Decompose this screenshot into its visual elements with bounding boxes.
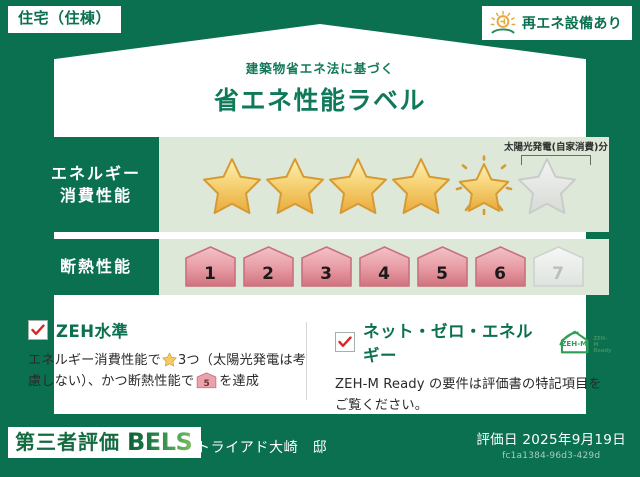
solar-sun-icon	[489, 10, 517, 36]
evaluation-date: 評価日 2025年9月19日	[476, 428, 626, 448]
svg-text:ZEH-M: ZEH-M	[561, 339, 587, 348]
criteria-zeh-standard: ZEH水準 エネルギー消費性能で3つ（太陽光発電は考慮しない）、かつ断熱性能で5…	[28, 318, 311, 417]
grade-number: 5	[415, 264, 470, 284]
inline-grade-number: 5	[196, 380, 217, 389]
checkmark-icon	[335, 332, 355, 352]
star-filled-3	[327, 155, 389, 215]
criteria-left-text-3: を達成	[219, 374, 259, 389]
insulation-grade-7: 7	[531, 245, 586, 289]
energy-performance-label: 住宅（住棟） 再エネ設備あり 建築物省エネ法に基づく	[0, 0, 640, 477]
title-main: 省エネ性能ラベル	[0, 81, 640, 117]
checkmark-icon	[28, 320, 48, 340]
star-filled-5-solar	[453, 155, 515, 215]
grade-number: 4	[357, 264, 412, 284]
grade-number: 7	[531, 264, 586, 284]
criteria-net-zero-energy: ネット・ゼロ・エネルギー ZEH-M ZEH-M Ready ZEH-M Rea…	[311, 318, 612, 417]
renewable-equipment-badge: 再エネ設備あり	[482, 6, 632, 40]
star-filled-2	[264, 155, 326, 215]
criteria-right-title: ネット・ゼロ・エネルギー	[363, 318, 550, 366]
zeh-m-house-icon: ZEH-M	[558, 329, 591, 355]
star-filled-1	[201, 155, 263, 215]
insulation-row-label: 断熱性能	[33, 239, 159, 295]
star-empty-6	[516, 155, 578, 215]
dwelling-type-tag: 住宅（住棟）	[8, 6, 121, 33]
label-footer: 第三者評価 BELS トライアド大崎 邸 評価日 2025年9月19日 fc1a…	[0, 417, 640, 477]
building-name: トライアド大崎 邸	[196, 437, 327, 457]
criteria-left-header: ZEH水準	[28, 318, 311, 342]
energy-label-line2: 消費性能	[60, 185, 132, 207]
grade-number: 1	[183, 264, 238, 284]
criteria-right-header: ネット・ゼロ・エネルギー ZEH-M ZEH-M Ready	[335, 318, 612, 366]
energy-star-track: 太陽光発電(自家消費)分	[159, 137, 609, 232]
insulation-label-text: 断熱性能	[60, 256, 132, 278]
energy-row-label: エネルギー 消費性能	[33, 137, 159, 232]
criteria-section: ZEH水準 エネルギー消費性能で3つ（太陽光発電は考慮しない）、かつ断熱性能で5…	[28, 318, 612, 417]
bels-jp-label: 第三者評価	[15, 431, 120, 453]
criteria-left-body: エネルギー消費性能で3つ（太陽光発電は考慮しない）、かつ断熱性能で5を達成	[28, 350, 311, 393]
bels-certification-badge: 第三者評価 BELS	[8, 427, 201, 458]
grade-number: 2	[241, 264, 296, 284]
insulation-grade-1: 1	[183, 245, 238, 289]
insulation-grade-3: 3	[299, 245, 354, 289]
label-title-block: 建築物省エネ法に基づく 省エネ性能ラベル	[0, 58, 640, 117]
criteria-right-body: ZEH-M Ready の要件は評価書の特記項目をご覧ください。	[335, 374, 612, 417]
criteria-left-title: ZEH水準	[56, 318, 129, 342]
rating-rows: エネルギー 消費性能 太陽光発電(自家消費)分	[33, 137, 609, 302]
insulation-grade-5: 5	[415, 245, 470, 289]
energy-performance-row: エネルギー 消費性能 太陽光発電(自家消費)分	[33, 137, 609, 232]
title-subtitle: 建築物省エネ法に基づく	[0, 58, 640, 77]
star-icon	[162, 352, 177, 367]
insulation-performance-row: 断熱性能 1 2 3 4	[33, 239, 609, 295]
insulation-grade-inline-icon: 5	[196, 372, 217, 389]
zeh-m-ready-line1: ZEH-M	[593, 336, 607, 348]
bels-en-label: BELS	[127, 430, 192, 454]
solar-annotation-text: 太陽光発電(自家消費)分	[483, 139, 629, 153]
insulation-grade-6: 6	[473, 245, 528, 289]
insulation-grade-track: 1 2 3 4 5	[159, 239, 609, 295]
renewable-badge-label: 再エネ設備あり	[522, 13, 622, 33]
zeh-m-ready-text: ZEH-M Ready	[593, 337, 612, 355]
insulation-grade-4: 4	[357, 245, 412, 289]
zeh-m-logo: ZEH-M ZEH-M Ready	[558, 329, 612, 355]
grade-number: 3	[299, 264, 354, 284]
grade-number: 6	[473, 264, 528, 284]
energy-label-line1: エネルギー	[51, 163, 141, 185]
criteria-left-text-1: エネルギー消費性能で	[28, 353, 161, 368]
star-filled-4	[390, 155, 452, 215]
zeh-m-ready-line2: Ready	[593, 348, 611, 354]
evaluation-info: 評価日 2025年9月19日 fc1a1384-96d3-429d	[476, 428, 626, 461]
evaluation-id: fc1a1384-96d3-429d	[476, 451, 626, 461]
insulation-grade-2: 2	[241, 245, 296, 289]
